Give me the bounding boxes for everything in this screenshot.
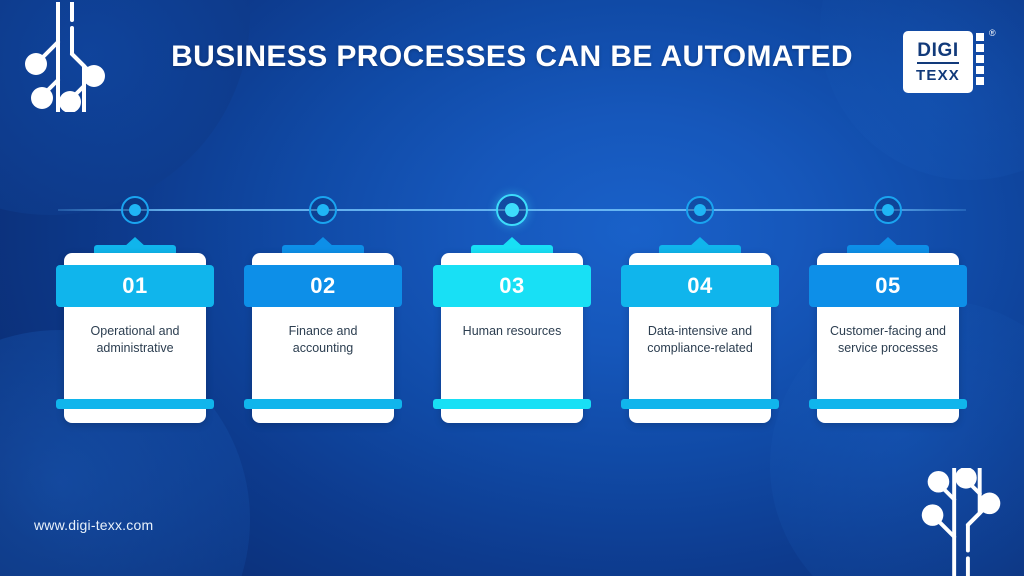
timeline-node-4[interactable]: [686, 196, 714, 224]
card-number-badge: 05: [809, 265, 967, 307]
logo-filmstrip-icon: [976, 33, 984, 85]
process-card-04[interactable]: 04Data-intensive and compliance-related: [621, 245, 779, 423]
card-arrow-up-icon: [877, 237, 899, 247]
card-number-badge: 04: [621, 265, 779, 307]
slide-canvas: BUSINESS PROCESSES CAN BE AUTOMATED DIGI…: [0, 0, 1024, 576]
card-number-badge: 03: [433, 265, 591, 307]
footer-url: www.digi-texx.com: [34, 517, 153, 533]
timeline-node-dot: [317, 204, 329, 216]
timeline-node-3[interactable]: [496, 194, 528, 226]
card-number-badge: 02: [244, 265, 402, 307]
card-arrow-up-icon: [312, 237, 334, 247]
card-label: Operational and administrative: [70, 323, 200, 357]
card-label: Human resources: [447, 323, 577, 340]
timeline-node-dot: [882, 204, 894, 216]
card-label: Data-intensive and compliance-related: [635, 323, 765, 357]
timeline-node-1[interactable]: [121, 196, 149, 224]
page-title: BUSINESS PROCESSES CAN BE AUTOMATED: [0, 40, 1024, 74]
logo-wordmark: DIGI TEXX: [903, 31, 973, 93]
card-arrow-up-icon: [501, 237, 523, 247]
brand-logo: DIGI TEXX ®: [903, 27, 1003, 97]
timeline-node-5[interactable]: [874, 196, 902, 224]
timeline-node-dot: [129, 204, 141, 216]
process-card-02[interactable]: 02Finance and accounting: [244, 245, 402, 423]
logo-text-secondary: TEXX: [916, 65, 960, 83]
timeline-node-2[interactable]: [309, 196, 337, 224]
process-card-05[interactable]: 05Customer-facing and service processes: [809, 245, 967, 423]
card-footer-bar: [244, 399, 402, 409]
logo-registered-mark: ®: [989, 29, 996, 38]
logo-text-primary: DIGI: [917, 41, 958, 64]
card-number-badge: 01: [56, 265, 214, 307]
timeline-node-dot: [505, 203, 519, 217]
card-footer-bar: [621, 399, 779, 409]
card-label: Finance and accounting: [258, 323, 388, 357]
card-footer-bar: [433, 399, 591, 409]
background-circle-top-left: [0, 0, 250, 215]
card-label: Customer-facing and service processes: [823, 323, 953, 357]
process-card-01[interactable]: 01Operational and administrative: [56, 245, 214, 423]
process-card-03[interactable]: 03Human resources: [433, 245, 591, 423]
card-arrow-up-icon: [689, 237, 711, 247]
card-footer-bar: [56, 399, 214, 409]
card-footer-bar: [809, 399, 967, 409]
card-arrow-up-icon: [124, 237, 146, 247]
timeline-node-dot: [694, 204, 706, 216]
circuit-decoration-secondary-icon: [908, 468, 1018, 576]
